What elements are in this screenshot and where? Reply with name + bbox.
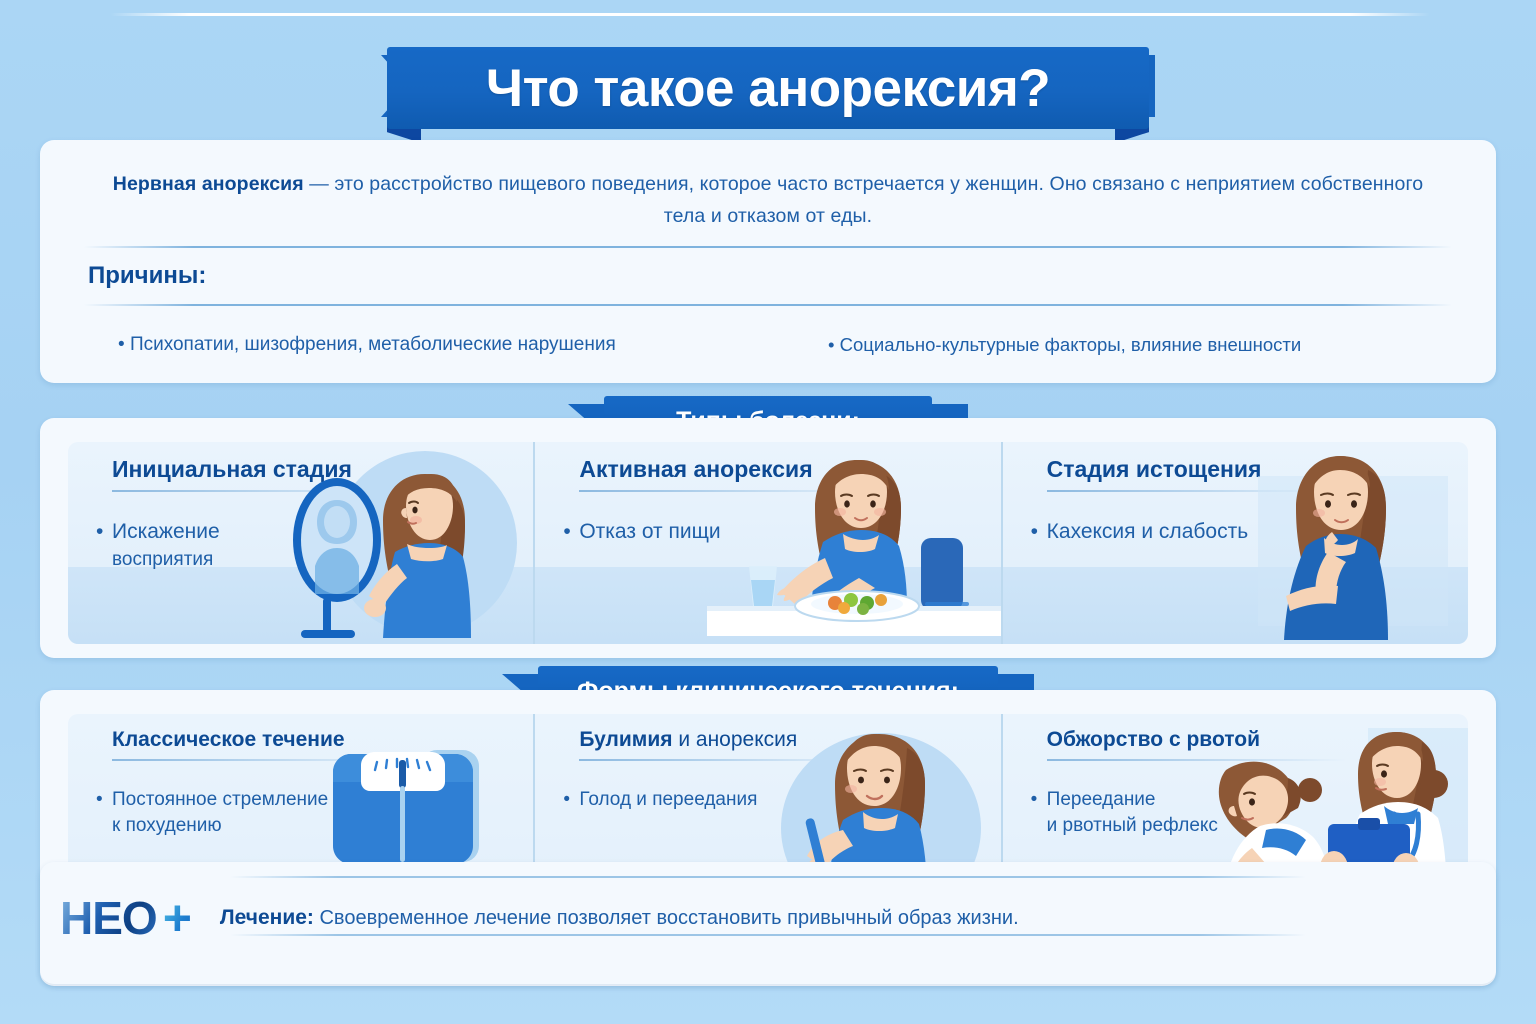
form-title-classic: Классическое течение (68, 728, 533, 752)
top-divider-line (110, 13, 1430, 16)
intro-paragraph: Нервная анорексия — это расстройство пищ… (40, 140, 1496, 232)
bullet-text: Постоянное стремление (112, 789, 328, 810)
causes-heading: Причины: (40, 248, 1496, 290)
type-title-active: Активная анорексия (535, 456, 1000, 483)
page-title: Что такое анорексия? (486, 58, 1050, 119)
title-plate: Что такое анорексия? (387, 47, 1149, 129)
treatment-text-block: Лечение: Своевременное лечение позволяет… (220, 906, 1019, 930)
cause-item-1: • Психопатии, шизофрения, метаболические… (40, 332, 786, 358)
types-panel: Инициальная стадия Искажение восприятия (68, 442, 1468, 644)
title-ribbon: Что такое анорексия? (0, 47, 1536, 142)
bullet-subtext: и рвотный рефлекс (1047, 813, 1347, 839)
intro-body-text: это расстройство пищевого поведения, кот… (334, 173, 1423, 227)
type-bullets-exhaustion: Кахексия и слабость (1003, 492, 1468, 546)
list-item: Кахексия и слабость (1047, 518, 1347, 546)
type-column-active: Активная анорексия Отказ от пищи (533, 442, 1000, 644)
neo-plus-logo: НЕО + (60, 893, 192, 943)
cause-item-1-label: Психопатии, шизофрения, метаболические н… (130, 334, 616, 355)
bullet-icon: • (118, 334, 130, 355)
treatment-card: НЕО + Лечение: Своевременное лечение поз… (40, 862, 1496, 984)
type-column-initial: Инициальная стадия Искажение восприятия (68, 442, 533, 644)
form-title-bulimia-strong: Булимия (579, 728, 672, 751)
bullet-icon: • (828, 334, 840, 355)
cause-item-2: • Социально-культурные факторы, влияние … (786, 332, 1496, 358)
type-title-exhaustion: Стадия истощения (1003, 456, 1468, 483)
bullet-text: Отказ от пищи (579, 520, 720, 543)
bullet-subtext: к похудению (112, 813, 412, 839)
treatment-row: НЕО + Лечение: Своевременное лечение поз… (40, 890, 1496, 946)
list-item: Голод и переедания (579, 787, 879, 813)
form-bullets-classic: Постоянное стремление к похудению (68, 761, 533, 839)
form-title-bulimia: Булимия и анорексия (535, 728, 1000, 752)
intro-card: Нервная анорексия — это расстройство пищ… (40, 140, 1496, 383)
bullet-text: Кахексия и слабость (1047, 520, 1248, 543)
type-title-initial: Инициальная стадия (68, 456, 533, 483)
treatment-divider-top (230, 876, 1306, 878)
list-item: Искажение восприятия (112, 518, 412, 574)
form-title-vomiting: Обжорство с рвотой (1003, 728, 1468, 752)
form-title-bulimia-light: и анорексия (673, 728, 798, 751)
treatment-label: Лечение: (220, 906, 314, 929)
list-item: Переедание и рвотный рефлекс (1047, 787, 1347, 839)
bullet-text: Голод и переедания (579, 789, 757, 810)
bullet-subtext: восприятия (112, 546, 412, 574)
form-bullets-vomiting: Переедание и рвотный рефлекс (1003, 761, 1468, 839)
treatment-description: Своевременное лечение позволяет восстано… (319, 907, 1018, 929)
cause-item-2-label: Социально-культурные факторы, влияние вн… (840, 334, 1302, 355)
logo-text: НЕО (60, 895, 157, 941)
type-bullets-active: Отказ от пищи (535, 492, 1000, 546)
form-bullets-bulimia: Голод и переедания (535, 761, 1000, 813)
list-item: Постоянное стремление к похудению (112, 787, 412, 839)
type-bullets-initial: Искажение восприятия (68, 492, 533, 574)
types-card: Инициальная стадия Искажение восприятия (40, 418, 1496, 658)
bullet-text: Искажение (112, 520, 220, 543)
list-item: Отказ от пищи (579, 518, 879, 546)
plus-icon: + (163, 893, 192, 943)
type-column-exhaustion: Стадия истощения Кахексия и слабость (1001, 442, 1468, 644)
intro-dash: — (304, 173, 335, 195)
bullet-text: Переедание (1047, 789, 1156, 810)
causes-list: • Психопатии, шизофрения, метаболические… (40, 306, 1496, 358)
intro-lead-term: Нервная анорексия (113, 173, 304, 195)
